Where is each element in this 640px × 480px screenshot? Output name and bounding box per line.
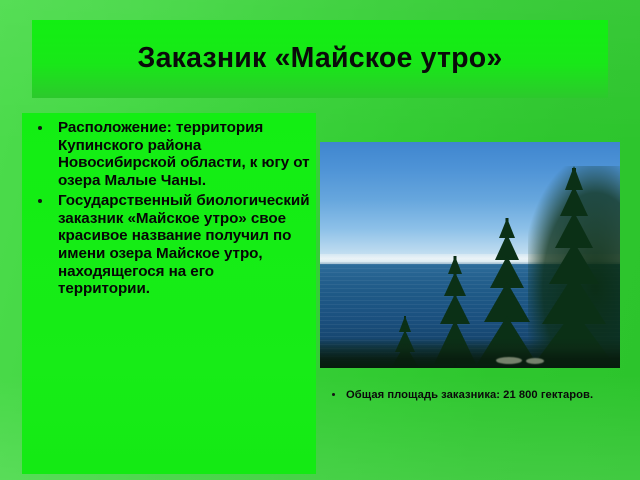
lake-photo[interactable]	[320, 142, 620, 368]
shore-rock	[526, 358, 544, 364]
body-text-placeholder[interactable]: Расположение: территория Купинского райо…	[22, 113, 316, 474]
slide-canvas: Заказник «Майское утро» Расположение: те…	[0, 0, 640, 480]
page-title: Заказник «Майское утро»	[138, 43, 503, 74]
bullet-dot-icon	[38, 199, 42, 203]
caption-placeholder[interactable]: Общая площадь заказника: 21 800 гектаров…	[322, 388, 622, 402]
bullet-list: Расположение: территория Купинского райо…	[30, 119, 310, 298]
bullet-dot-icon	[332, 393, 335, 396]
list-item: Государственный биологический заказник «…	[30, 192, 310, 298]
bullet-text: Расположение: территория Купинского райо…	[58, 119, 310, 189]
bullet-text: Государственный биологический заказник «…	[58, 192, 310, 298]
shoreline	[320, 338, 620, 368]
shore-rock	[496, 357, 522, 364]
caption-text: Общая площадь заказника: 21 800 гектаров…	[346, 389, 593, 401]
bullet-dot-icon	[38, 126, 42, 130]
title-placeholder[interactable]: Заказник «Майское утро»	[32, 20, 608, 98]
caption-bullet-list: Общая площадь заказника: 21 800 гектаров…	[322, 388, 622, 402]
list-item: Общая площадь заказника: 21 800 гектаров…	[322, 388, 622, 402]
list-item: Расположение: территория Купинского райо…	[30, 119, 310, 190]
